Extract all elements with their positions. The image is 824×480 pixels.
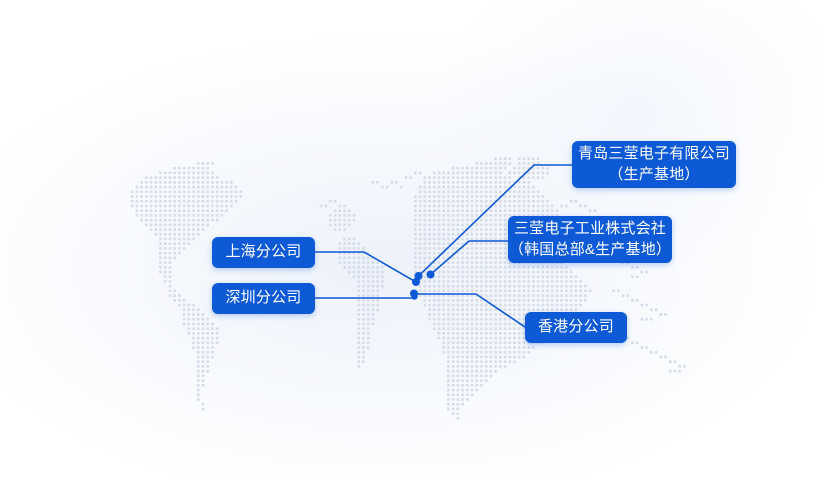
label-shenzhen-branch[interactable]: 深圳分公司 xyxy=(212,283,315,314)
label-hongkong-branch[interactable]: 香港分公司 xyxy=(525,312,627,343)
label-korea-headquarters[interactable]: 三莹电子工业株式会社（韩国总部&生产基地） xyxy=(508,216,672,263)
map-marker-hongkong[interactable] xyxy=(411,293,417,299)
label-qingdao-factory-line-1: 青岛三莹电子有限公司 xyxy=(578,144,730,165)
label-shenzhen-branch-line-1: 深圳分公司 xyxy=(225,288,301,309)
label-shanghai-branch[interactable]: 上海分公司 xyxy=(212,237,315,268)
label-hongkong-branch-line-1: 香港分公司 xyxy=(538,317,614,338)
map-marker-korea[interactable] xyxy=(427,271,435,279)
connector-hongkong xyxy=(415,294,526,327)
label-qingdao-factory-line-2: （生产基地） xyxy=(608,165,699,186)
world-map-infographic: 青岛三莹电子有限公司（生产基地）三莹电子工业株式会社（韩国总部&生产基地）上海分… xyxy=(0,0,824,480)
label-korea-headquarters-line-2: （韩国总部&生产基地） xyxy=(509,240,671,261)
label-korea-headquarters-line-1: 三莹电子工业株式会社 xyxy=(514,219,666,240)
connector-korea xyxy=(431,241,509,275)
label-shanghai-branch-line-1: 上海分公司 xyxy=(225,242,301,263)
connector-layer xyxy=(0,0,824,480)
connector-shanghai xyxy=(315,252,416,282)
map-marker-shanghai[interactable] xyxy=(412,278,420,286)
label-qingdao-factory[interactable]: 青岛三莹电子有限公司（生产基地） xyxy=(572,141,736,188)
